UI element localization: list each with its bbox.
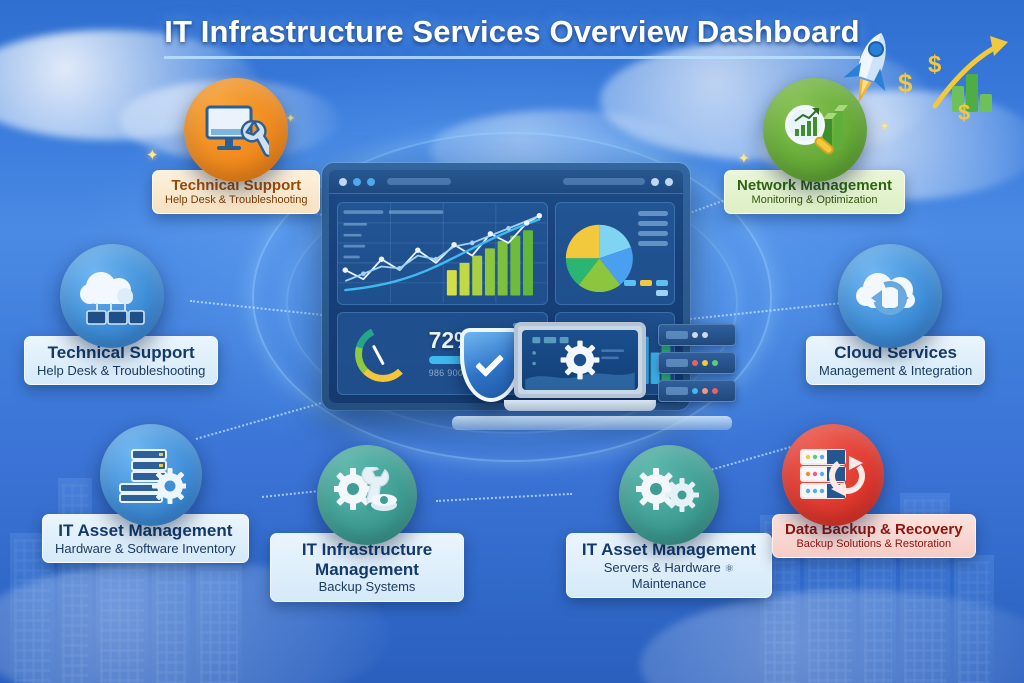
dashboard-titlebar (329, 170, 683, 194)
gears-wrench-icon[interactable] (619, 445, 719, 545)
atom-glyph-icon: ⚛ (724, 563, 734, 575)
server-unit (658, 380, 736, 402)
node-subtitle: Monitoring & Optimization (737, 194, 892, 207)
window-dot (651, 178, 659, 186)
monitor-wrench-icon[interactable] (184, 78, 288, 182)
page-title: IT Infrastructure Services Overview Dash… (164, 14, 859, 59)
node-subtitle: Hardware & Software Inventory (55, 541, 236, 557)
window-dot (353, 178, 361, 186)
node-subtitle: Help Desk & Troubleshooting (37, 363, 205, 379)
node-technical-support-left[interactable]: Technical Support Help Desk & Troublesho… (24, 244, 218, 385)
cloud-decoration (640, 590, 1024, 683)
laptop-screen (522, 330, 638, 390)
device-platform (452, 416, 732, 430)
pie-legend-chips (624, 280, 668, 296)
node-label-data-backup-recovery[interactable]: Data Backup & Recovery Backup Solutions … (772, 514, 976, 558)
page-title-wrapper: IT Infrastructure Services Overview Dash… (0, 14, 1024, 59)
laptop-lid (514, 322, 646, 398)
gauge-dial (343, 318, 423, 389)
server-unit (658, 324, 736, 346)
pie-legend (638, 211, 668, 246)
server-rack-icon (658, 324, 736, 408)
node-it-asset-management-center[interactable]: IT Asset Management Servers & Hardware ⚛… (566, 445, 772, 598)
security-shield-icon (460, 328, 522, 402)
magnifier-bar-chart-icon[interactable] (763, 78, 867, 182)
node-subtitle-line2: Maintenance (632, 576, 706, 591)
window-dot (367, 178, 375, 186)
titlebar-placeholder-bar (387, 178, 451, 185)
server-sync-icon[interactable] (782, 424, 884, 526)
node-network-management[interactable]: Network Management Monitoring & Optimiza… (724, 78, 905, 214)
node-it-infrastructure-management[interactable]: IT Infrastructure Management Backup Syst… (270, 445, 464, 602)
node-subtitle: Servers & Hardware ⚛ Maintenance (579, 560, 759, 592)
window-dot (665, 178, 673, 186)
laptop-keyboard-base (504, 400, 656, 411)
cloud-sync-icon[interactable] (838, 244, 942, 348)
titlebar-placeholder-bar (563, 178, 645, 185)
gears-wrench-icon[interactable] (317, 445, 417, 545)
pie-chart-widget[interactable] (555, 202, 675, 305)
node-it-asset-management-left[interactable]: IT Asset Management Hardware & Software … (42, 424, 249, 563)
node-subtitle: Backup Solutions & Restoration (785, 538, 963, 551)
cloud-servers-icon[interactable] (60, 244, 164, 348)
server-rack-gear-icon[interactable] (100, 424, 202, 526)
node-title: IT Infrastructure Management (283, 540, 451, 579)
check-mark-icon (475, 348, 504, 377)
node-subtitle: Backup Systems (283, 579, 451, 595)
node-subtitle: Management & Integration (819, 363, 972, 379)
node-cloud-services[interactable]: Cloud Services Management & Integration (806, 244, 985, 385)
node-subtitle-line1: Servers & Hardware (604, 560, 721, 575)
svg-text:$: $ (958, 100, 970, 125)
node-subtitle: Help Desk & Troubleshooting (165, 194, 307, 207)
hero-device-group (448, 318, 736, 426)
node-technical-support-top[interactable]: Technical Support Help Desk & Troublesho… (152, 78, 320, 214)
laptop-gear-icon (514, 322, 652, 418)
node-title: Data Backup & Recovery (785, 521, 963, 538)
line-chart-widget[interactable] (337, 202, 548, 305)
node-data-backup-recovery[interactable]: Data Backup & Recovery Backup Solutions … (772, 424, 976, 558)
server-unit (658, 352, 736, 374)
infographic-canvas: $ $ $ ✦ ✦ ✦ ✦ IT Infrastructure Services… (0, 0, 1024, 683)
window-dot (339, 178, 347, 186)
